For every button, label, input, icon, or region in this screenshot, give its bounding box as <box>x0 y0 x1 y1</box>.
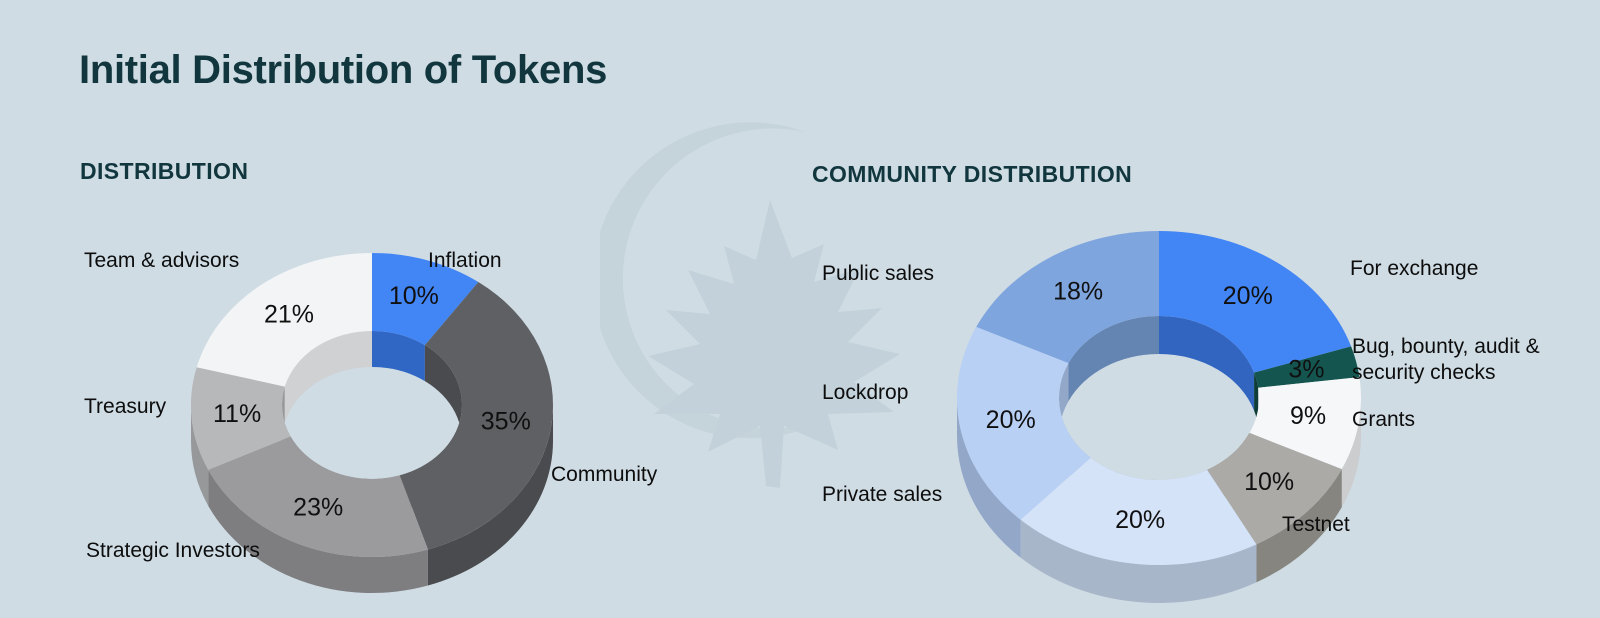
donut-segment <box>1254 346 1359 387</box>
donut-inner-wall <box>1249 388 1259 471</box>
segment-value-label: 10% <box>1244 468 1294 496</box>
page-title: Initial Distribution of Tokens <box>79 48 607 93</box>
segment-value-label: 11% <box>213 400 261 428</box>
donut-segment <box>1159 231 1351 373</box>
category-label: Public sales <box>822 261 934 287</box>
segment-value-label: 20% <box>1223 282 1273 310</box>
donut-inner-wall <box>1059 363 1091 496</box>
category-label: Treasury <box>84 394 166 420</box>
category-label: Team & advisors <box>84 248 239 274</box>
donut-inner-wall <box>372 331 425 381</box>
segment-value-label: 20% <box>986 406 1036 434</box>
donut-top-faces <box>191 253 553 557</box>
donut-inner-wall <box>285 331 372 423</box>
donut-inner-wall <box>291 437 372 515</box>
segment-value-label: 18% <box>1053 278 1103 306</box>
segment-value-label: 21% <box>264 300 314 328</box>
donut-segment <box>1021 458 1257 565</box>
category-label: Inflation <box>428 248 502 274</box>
donut-segment <box>957 327 1091 520</box>
donut-segment <box>191 367 291 470</box>
donut-inner-wall <box>1091 458 1159 518</box>
segment-value-label: 10% <box>389 282 439 310</box>
segment-value-label: 20% <box>1115 506 1165 534</box>
section-heading-distribution: DISTRIBUTION <box>80 158 248 185</box>
donut-inner-wall <box>1207 433 1249 508</box>
donut-outer-wall <box>208 470 428 593</box>
category-label: Community <box>551 462 657 488</box>
segment-value-label: 23% <box>293 493 343 521</box>
category-label: Private sales <box>822 482 942 508</box>
category-label: Testnet <box>1282 512 1350 538</box>
category-label: Lockdrop <box>822 380 908 406</box>
category-label: For exchange <box>1350 256 1478 282</box>
donut-outer-wall <box>1021 520 1257 603</box>
segment-value-label: 35% <box>481 407 531 435</box>
donut-value-labels: 20%3%9%10%20%20%18% <box>986 278 1326 535</box>
donut-inner-wall <box>372 475 400 515</box>
donut-inner-wall <box>1159 316 1254 411</box>
donut-inner-wall <box>1254 373 1258 426</box>
category-label: Grants <box>1352 407 1415 433</box>
donut-inner-wall <box>1069 316 1159 401</box>
donut-outer-wall <box>428 405 553 586</box>
donut-outer-wall <box>957 398 1021 558</box>
donut-inner-wall <box>1159 470 1207 518</box>
category-label: Strategic Investors <box>86 538 260 564</box>
category-label: Bug, bounty, audit & security checks <box>1352 334 1567 387</box>
donut-segment <box>1249 377 1361 469</box>
segment-value-label: 9% <box>1290 402 1326 430</box>
section-heading-community-distribution: COMMUNITY DISTRIBUTION <box>812 161 1132 188</box>
donut-inner-wall <box>400 345 462 511</box>
donut-inner-wall <box>282 387 291 473</box>
donut-segment <box>400 282 553 550</box>
donut-segment <box>976 231 1159 363</box>
donut-value-labels: 10%35%23%11%21% <box>213 282 531 521</box>
segment-value-label: 3% <box>1288 355 1324 383</box>
donut-3d-walls <box>957 316 1361 603</box>
donut-outer-wall <box>191 405 208 506</box>
